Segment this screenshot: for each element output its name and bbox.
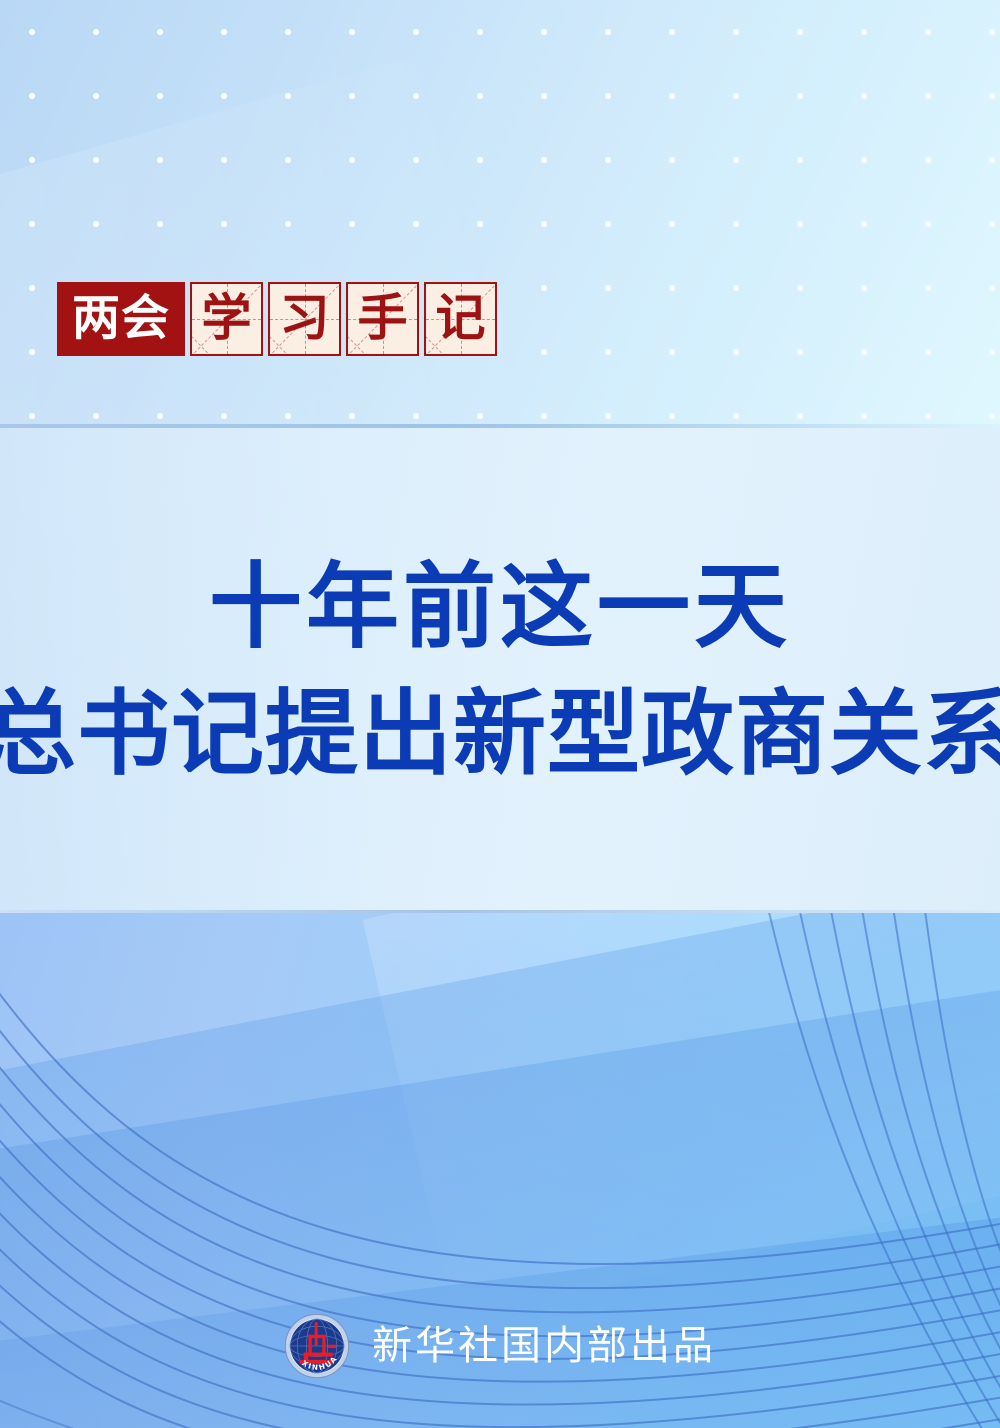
badge-cell-3: 手 bbox=[346, 282, 419, 356]
series-badge: 两会 学 习 手 记 bbox=[57, 282, 497, 356]
headline-block: 十年前这一天 总书记提出新型政商关系 bbox=[0, 428, 1000, 913]
badge-cell-glyph: 学 bbox=[202, 293, 252, 345]
xinhua-logo-icon: XINHUA bbox=[284, 1313, 350, 1379]
badge-cell-2: 习 bbox=[268, 282, 341, 356]
badge-cell-1: 学 bbox=[190, 282, 263, 356]
badge-cell-4: 记 bbox=[424, 282, 497, 356]
footer-credit: XINHUA 新华社国内部出品 bbox=[0, 1298, 1000, 1394]
top-dotted-band bbox=[0, 0, 1000, 428]
badge-cell-glyph: 手 bbox=[358, 293, 408, 345]
badge-solid-label: 两会 bbox=[57, 282, 185, 356]
badge-cell-glyph: 记 bbox=[436, 293, 486, 345]
poster-root: 两会 学 习 手 记 bbox=[0, 0, 1000, 1428]
badge-cell-glyph: 习 bbox=[280, 293, 330, 345]
footer-credit-text: 新华社国内部出品 bbox=[372, 1326, 716, 1366]
headline-line-2: 总书记提出新型政商关系 bbox=[0, 682, 1000, 786]
headline-line-1: 十年前这一天 bbox=[209, 555, 791, 659]
